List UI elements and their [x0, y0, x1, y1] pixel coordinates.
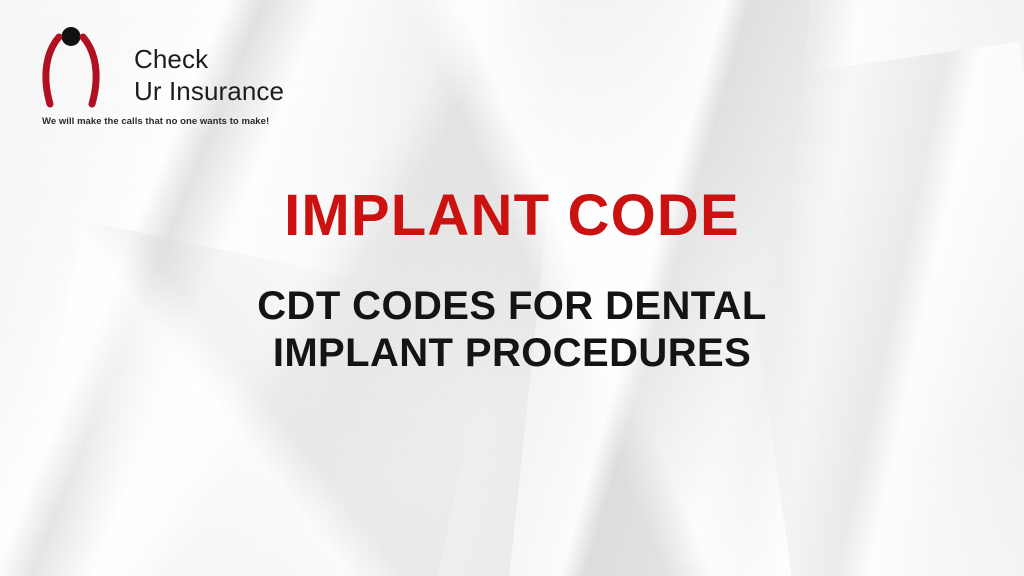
banner-canvas: Check Ur Insurance We will make the call… [0, 0, 1024, 576]
brand-name-line-2: Ur Insurance [134, 76, 284, 108]
brand-name-line-1: Check [134, 44, 284, 76]
page-subtitle: CDT CODES FOR DENTAL IMPLANT PROCEDURES [0, 247, 1024, 377]
stylized-person-logo-mark-icon [38, 24, 104, 112]
brand-logo[interactable]: Check Ur Insurance We will make the call… [38, 24, 268, 136]
brand-name: Check Ur Insurance [134, 44, 284, 107]
brand-tagline: We will make the calls that no one wants… [42, 116, 269, 127]
page-subtitle-line-2: IMPLANT PROCEDURES [0, 330, 1024, 377]
page-subtitle-line-1: CDT CODES FOR DENTAL [0, 283, 1024, 330]
page-title: IMPLANT CODE [0, 186, 1024, 247]
headline-block: IMPLANT CODE CDT CODES FOR DENTAL IMPLAN… [0, 186, 1024, 377]
